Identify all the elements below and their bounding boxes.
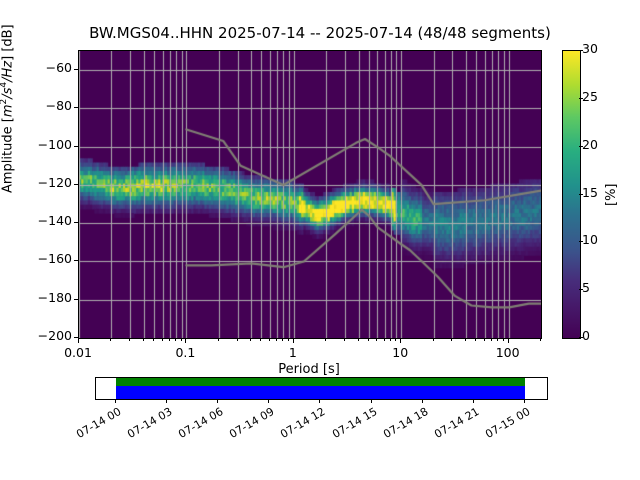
x-tick-mark-minor	[491, 338, 492, 341]
x-tick-mark-minor	[497, 338, 498, 341]
coverage-green	[116, 378, 525, 386]
x-tick-mark-minor	[153, 338, 154, 341]
y-tick-mark	[74, 184, 78, 185]
x-tick-mark-minor	[503, 338, 504, 341]
y-tick-label: −140	[38, 213, 72, 228]
y-axis-label: Amplitude [m2/s4/Hz] [dB]	[0, 24, 15, 193]
x-tick-mark-minor	[395, 338, 396, 341]
x-tick-label: 1	[289, 345, 297, 360]
colorbar-tick-label: 20	[582, 137, 598, 152]
colorbar-tick-label: 0	[582, 328, 590, 343]
y-tick-mark	[74, 107, 78, 108]
x-tick-label: 10	[392, 345, 408, 360]
colorbar-tick-label: 15	[582, 185, 598, 200]
y-tick-mark	[74, 69, 78, 70]
x-tick-mark-minor	[181, 338, 182, 341]
x-tick-mark-major	[400, 338, 401, 343]
x-tick-mark-minor	[384, 338, 385, 341]
timeline-tick-label: 07-14 12	[266, 405, 328, 448]
x-tick-mark-minor	[475, 338, 476, 341]
x-tick-mark-minor	[368, 338, 369, 341]
x-axis-label: Period [s]	[278, 362, 340, 377]
x-tick-mark-minor	[540, 338, 541, 341]
colorbar-tick-label: 30	[582, 41, 598, 56]
y-tick-label: −160	[38, 251, 72, 266]
y-tick-label: −180	[38, 290, 72, 305]
y-tick-label: −120	[38, 175, 72, 190]
x-tick-mark-minor	[465, 338, 466, 341]
x-tick-mark-minor	[451, 338, 452, 341]
ppsd-plot-area[interactable]	[78, 50, 542, 339]
colorbar-tick-mark	[579, 146, 583, 147]
x-tick-mark-major	[185, 338, 186, 343]
timeline-tick-mark	[524, 399, 525, 403]
x-tick-label: 0.1	[175, 345, 195, 360]
colorbar-tick-mark	[579, 50, 583, 51]
colorbar-tick-mark	[579, 337, 583, 338]
x-tick-mark-major	[78, 338, 79, 343]
ppsd-figure: BW.MGS04..HHN 2025-07-14 -- 2025-07-14 (…	[0, 0, 640, 480]
timeline-tick-mark	[422, 399, 423, 403]
timeline-tick-label: 07-14 21	[419, 405, 481, 448]
x-tick-mark-major	[293, 338, 294, 343]
colorbar-tick-label: 10	[582, 232, 598, 247]
timeline-tick-mark	[319, 399, 320, 403]
colorbar-tick-mark	[579, 241, 583, 242]
colorbar-tick-mark	[579, 98, 583, 99]
x-tick-mark-minor	[162, 338, 163, 341]
x-tick-mark-minor	[433, 338, 434, 341]
x-tick-mark-minor	[143, 338, 144, 341]
x-tick-mark-minor	[358, 338, 359, 341]
noise-model-curves	[79, 51, 541, 338]
x-tick-mark-minor	[282, 338, 283, 341]
x-tick-mark-minor	[250, 338, 251, 341]
timeline-tick-mark	[166, 399, 167, 403]
x-tick-mark-minor	[237, 338, 238, 341]
x-tick-mark-minor	[218, 338, 219, 341]
x-tick-mark-minor	[344, 338, 345, 341]
x-tick-mark-minor	[260, 338, 261, 341]
x-tick-mark-minor	[110, 338, 111, 341]
timeline-tick-mark	[371, 399, 372, 403]
timeline-tick-mark	[473, 399, 474, 403]
x-tick-label: 100	[496, 345, 520, 360]
x-tick-mark-minor	[484, 338, 485, 341]
timeline-tick-mark	[115, 399, 116, 403]
timeline-tick-label: 07-14 00	[62, 405, 124, 448]
y-tick-label: −60	[46, 60, 72, 75]
x-tick-label: 0.01	[64, 345, 92, 360]
x-tick-mark-minor	[276, 338, 277, 341]
y-tick-mark	[74, 299, 78, 300]
y-tick-mark	[74, 260, 78, 261]
data-coverage-timeline[interactable]	[95, 377, 548, 400]
colorbar-label: [%]	[604, 184, 619, 207]
x-tick-mark-major	[508, 338, 509, 343]
timeline-tick-mark	[268, 399, 269, 403]
x-tick-mark-minor	[288, 338, 289, 341]
coverage-blue	[116, 386, 525, 399]
timeline-tick-label: 07-14 18	[368, 405, 430, 448]
x-tick-mark-minor	[376, 338, 377, 341]
y-tick-label: −200	[38, 328, 72, 343]
x-tick-mark-minor	[129, 338, 130, 341]
colorbar-tick-mark	[579, 289, 583, 290]
x-tick-mark-minor	[390, 338, 391, 341]
y-tick-label: −100	[38, 137, 72, 152]
timeline-tick-label: 07-14 15	[317, 405, 379, 448]
x-tick-mark-minor	[325, 338, 326, 341]
page-title: BW.MGS04..HHN 2025-07-14 -- 2025-07-14 (…	[89, 24, 551, 42]
timeline-tick-label: 07-15 00	[470, 405, 532, 448]
colorbar-tick-label: 5	[582, 280, 590, 295]
y-tick-label: −80	[46, 98, 72, 113]
y-tick-mark	[74, 222, 78, 223]
timeline-tick-mark	[217, 399, 218, 403]
colorbar-tick-mark	[579, 194, 583, 195]
x-tick-mark-minor	[269, 338, 270, 341]
x-tick-mark-minor	[175, 338, 176, 341]
x-tick-mark-minor	[169, 338, 170, 341]
colorbar-tick-label: 25	[582, 89, 598, 104]
y-tick-mark	[74, 146, 78, 147]
